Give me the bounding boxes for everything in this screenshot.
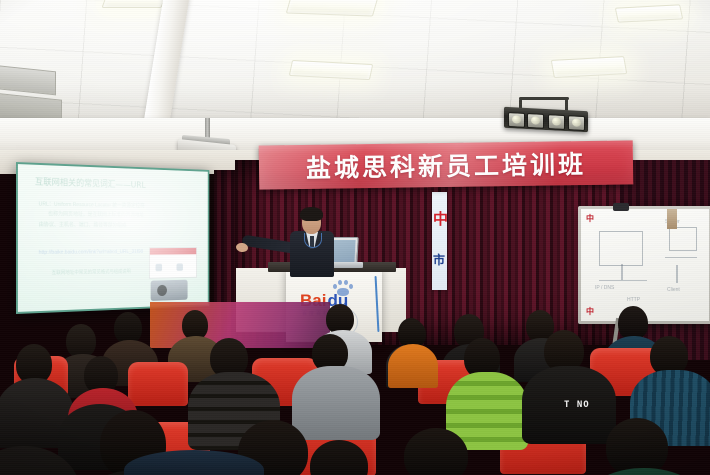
- presenter: [240, 205, 350, 275]
- par-light-icon-2: [527, 113, 544, 129]
- person-head: [618, 306, 648, 340]
- par-light-icon-4: [568, 115, 585, 131]
- ceiling-light-3: [551, 56, 627, 78]
- audience-area: T NO: [0, 300, 710, 475]
- slide-note: 互联网地址中常见的常见格式与组成说明: [52, 268, 131, 276]
- projection-screen: 互联网相关的常见词汇——URL URL：Uniform Resource Loc…: [18, 164, 208, 312]
- whiteboard-line-4: [676, 265, 678, 283]
- slide-projector-photo: [151, 280, 188, 301]
- whiteboard-diagram-box-2: [669, 227, 697, 251]
- slide-link: http://baike.baidu.com/link?url=abcd_URL…: [39, 247, 153, 258]
- whiteboard-clip-icon: [613, 203, 629, 211]
- ceiling-light-5: [101, 0, 166, 8]
- whiteboard-text-1: IP / DNS: [595, 285, 614, 291]
- thumbnail-icon-b: [177, 263, 183, 270]
- jacket-print-text: T NO: [564, 400, 590, 410]
- photo-scene: 中 市 盐城思科新员工培训班 互联网相关的常见词汇——URL URL：Unifo…: [0, 0, 710, 475]
- poster-char-red: 中: [433, 212, 447, 227]
- person-grey-coat: [292, 366, 380, 440]
- slide-title: 互联网相关的常见词汇——URL: [35, 175, 146, 191]
- whiteboard-taped-paper: [667, 209, 677, 229]
- ceiling: [0, 0, 710, 152]
- thumbnail-icon-a: [156, 264, 163, 271]
- thumbnail-header-bar: [150, 248, 196, 255]
- slide-bullet-3: 由协议、主机名、端口、路径等部分组成: [39, 220, 197, 231]
- projection-screen-frame: 互联网相关的常见词汇——URL URL：Uniform Resource Loc…: [16, 162, 209, 314]
- poster-char-blue: 市: [433, 254, 445, 266]
- whiteboard-line-1: [621, 264, 623, 280]
- person-dark-green-coat: [584, 468, 704, 475]
- light-bar-rail: [519, 97, 569, 100]
- whiteboard-diagram-box-1: [599, 231, 643, 266]
- banner-title: 盐城思科新员工培训班: [306, 145, 586, 185]
- whiteboard-logo-top-left: 中: [586, 213, 594, 224]
- paw-icon: [332, 280, 354, 297]
- par-light-icon-1: [508, 112, 525, 128]
- person-head: [404, 428, 468, 475]
- hidden-poster: 中 市: [432, 192, 447, 290]
- event-banner: 盐城思科新员工培训班: [259, 140, 634, 189]
- stage-light-bar: [504, 107, 588, 132]
- person-head: [606, 418, 668, 475]
- whiteboard-line-3: [665, 257, 697, 258]
- slide-thumbnail-image: [149, 247, 197, 279]
- person-head: [66, 324, 96, 358]
- chair-1: [128, 362, 188, 406]
- person-orange-coat: [388, 344, 438, 388]
- par-light-icon-3: [548, 114, 565, 130]
- whiteboard-text-3: Client: [667, 287, 680, 293]
- whiteboard-line-2: [599, 280, 647, 281]
- presenter-hair: [300, 207, 323, 221]
- slide-bullet-list: URL：Uniform Resource Locator 统一资源定位符 也称为…: [39, 199, 197, 231]
